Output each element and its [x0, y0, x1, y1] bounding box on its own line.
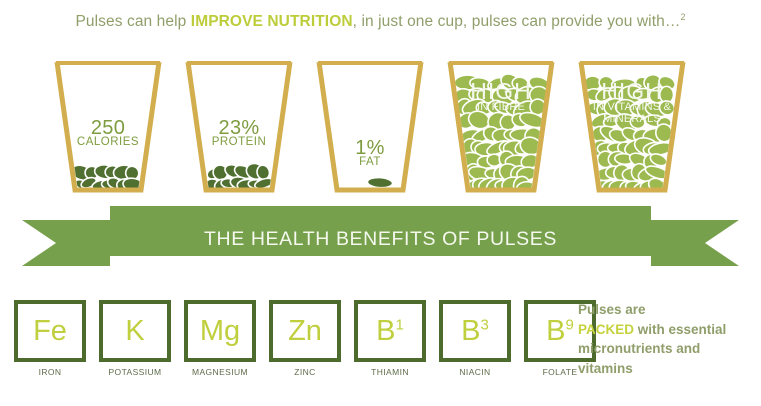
nutrient-boxes: FeIRONKPOTASSIUMMgMAGNESIUMZnZINCB1THIAM…	[14, 300, 596, 377]
nutrient-symbol: K	[125, 317, 144, 346]
nutrient-superscript: 1	[396, 316, 404, 333]
headline-before: Pulses can help	[75, 13, 190, 30]
cup-2: 23%PROTEIN	[182, 56, 296, 194]
blurb-highlight: PACKED	[578, 322, 634, 337]
nutrient-symbol: Fe	[33, 317, 67, 346]
blurb-line3: micronutrients and	[578, 341, 700, 356]
cup-5: HIGHIN VITAMINS & MINERALS	[575, 56, 689, 194]
cup-4: HIGHIN FIBRE	[444, 56, 558, 194]
nutrient-symbol-box: Fe	[14, 300, 86, 362]
nutrient-potassium[interactable]: KPOTASSIUM	[99, 300, 171, 377]
nutrient-zinc[interactable]: ZnZINC	[269, 300, 341, 377]
headline-emphasis: IMPROVE NUTRITION	[191, 13, 353, 30]
cup-1: 250CALORIES	[51, 56, 165, 194]
cup-graphic	[444, 56, 558, 194]
nutrient-symbol: B9	[546, 317, 574, 346]
pulse-group	[367, 177, 393, 189]
nutrient-symbol-box: Zn	[269, 300, 341, 362]
nutrient-name: NIACIN	[439, 367, 511, 377]
nutrient-symbol-box: B3	[439, 300, 511, 362]
headline: Pulses can help IMPROVE NUTRITION, in ju…	[0, 12, 761, 31]
nutrient-superscript: 9	[566, 316, 574, 333]
nutrient-thiamin[interactable]: B1THIAMIN	[354, 300, 426, 377]
nutrient-name: POTASSIUM	[99, 367, 171, 377]
nutrient-symbol-box: K	[99, 300, 171, 362]
nutrient-symbol: Mg	[200, 317, 240, 346]
nutrient-name: ZINC	[269, 367, 341, 377]
blurb-line2: with essential	[634, 322, 726, 337]
cup-3: 1%FAT	[313, 56, 427, 194]
nutrient-magnesium[interactable]: MgMAGNESIUM	[184, 300, 256, 377]
cup-graphic	[313, 56, 427, 194]
nutrient-symbol-box: Mg	[184, 300, 256, 362]
nutrient-symbol: B1	[376, 317, 404, 346]
nutrient-name: MAGNESIUM	[184, 367, 256, 377]
blurb-text: Pulses are PACKED with essential micronu…	[578, 300, 758, 378]
cup-outline	[319, 62, 421, 190]
nutrient-name: IRON	[14, 367, 86, 377]
nutrient-superscript: 3	[481, 316, 489, 333]
headline-after: , in just one cup, pulses can provide yo…	[353, 13, 681, 30]
headline-footnote: 2	[680, 12, 685, 22]
ribbon-title: THE HEALTH BENEFITS OF PULSES	[0, 228, 761, 251]
nutrient-symbol-box: B1	[354, 300, 426, 362]
nutrient-symbol: Zn	[288, 317, 322, 346]
nutrient-niacin[interactable]: B3NIACIN	[439, 300, 511, 377]
cup-graphic	[182, 56, 296, 194]
nutrient-iron[interactable]: FeIRON	[14, 300, 86, 377]
nutrient-name: THIAMIN	[354, 367, 426, 377]
cup-graphic	[575, 56, 689, 194]
cups-row: 250CALORIES23%PROTEIN1%FATHIGHIN FIBREHI…	[0, 52, 761, 200]
blurb-line1: Pulses are	[578, 302, 646, 317]
cup-graphic	[51, 56, 165, 194]
nutrient-symbol: B3	[461, 317, 489, 346]
blurb-line4: vitamins	[578, 361, 633, 376]
